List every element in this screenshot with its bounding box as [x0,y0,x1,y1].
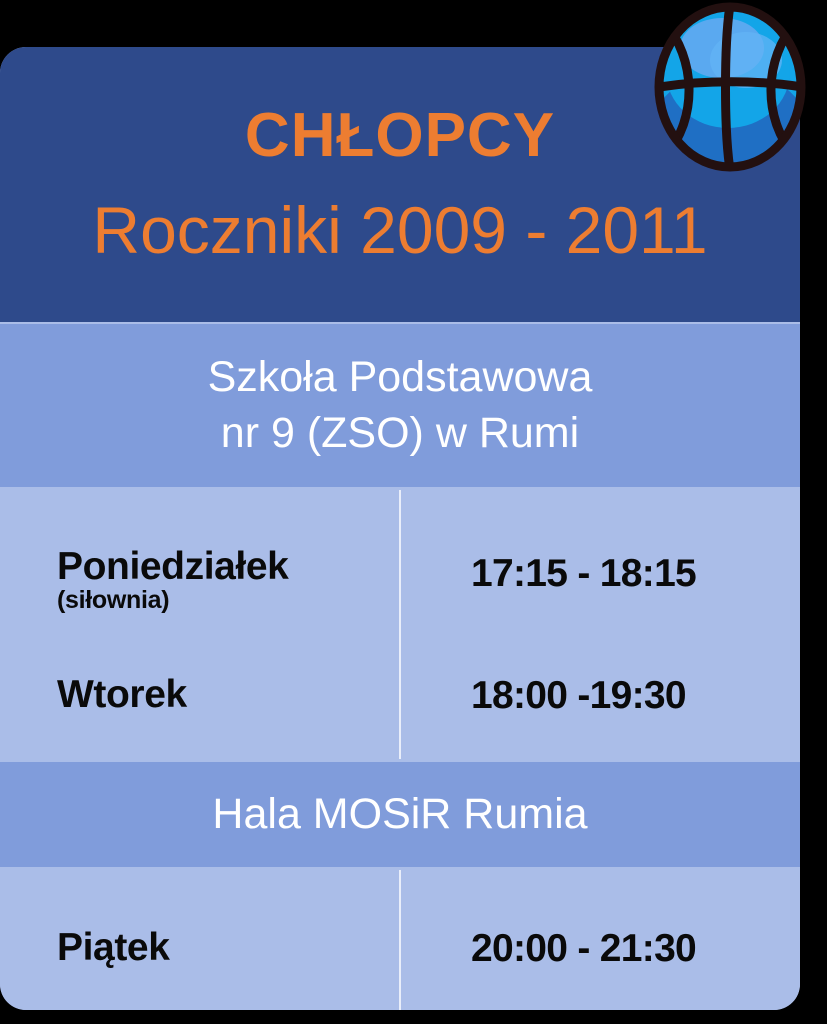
time-label: 20:00 - 21:30 [471,929,800,968]
day-cell: Piątek [0,928,399,968]
venue-name-2: Hala MOSiR Rumia [212,787,587,842]
time-cell: 20:00 - 21:30 [399,929,800,968]
time-cell: 17:15 - 18:15 [399,547,800,593]
venue-band-2: Hala MOSiR Rumia [0,762,800,867]
day-label: Wtorek [57,675,399,715]
schedule-card: CHŁOPCY Roczniki 2009 - 2011 Szkoła Pods… [0,47,800,1010]
venue-band-1: Szkoła Podstawowa nr 9 (ZSO) w Rumi [0,324,800,487]
day-label: Piątek [57,928,399,968]
time-cell: 18:00 -19:30 [399,676,800,715]
day-label: Poniedziałek [57,547,399,587]
venue-name-1: Szkoła Podstawowa nr 9 (ZSO) w Rumi [208,350,593,460]
time-label: 18:00 -19:30 [471,676,800,715]
table-row: Poniedziałek (siłownia) 17:15 - 18:15 [0,547,800,643]
schedule-grid-1: Poniedziałek (siłownia) 17:15 - 18:15 Wt… [0,490,800,759]
page-subtitle: Roczniki 2009 - 2011 [92,197,707,263]
time-label: 17:15 - 18:15 [471,554,800,593]
day-note: (siłownia) [57,587,399,613]
day-cell: Wtorek [0,675,399,715]
table-row: Wtorek 18:00 -19:30 [0,665,800,725]
day-cell: Poniedziałek (siłownia) [0,547,399,613]
poster-canvas: CHŁOPCY Roczniki 2009 - 2011 Szkoła Pods… [0,0,827,1024]
schedule-grid-2: Piątek 20:00 - 21:30 [0,870,800,1010]
page-title: CHŁOPCY [245,105,555,167]
table-row: Piątek 20:00 - 21:30 [0,918,800,978]
basketball-icon [650,0,810,175]
